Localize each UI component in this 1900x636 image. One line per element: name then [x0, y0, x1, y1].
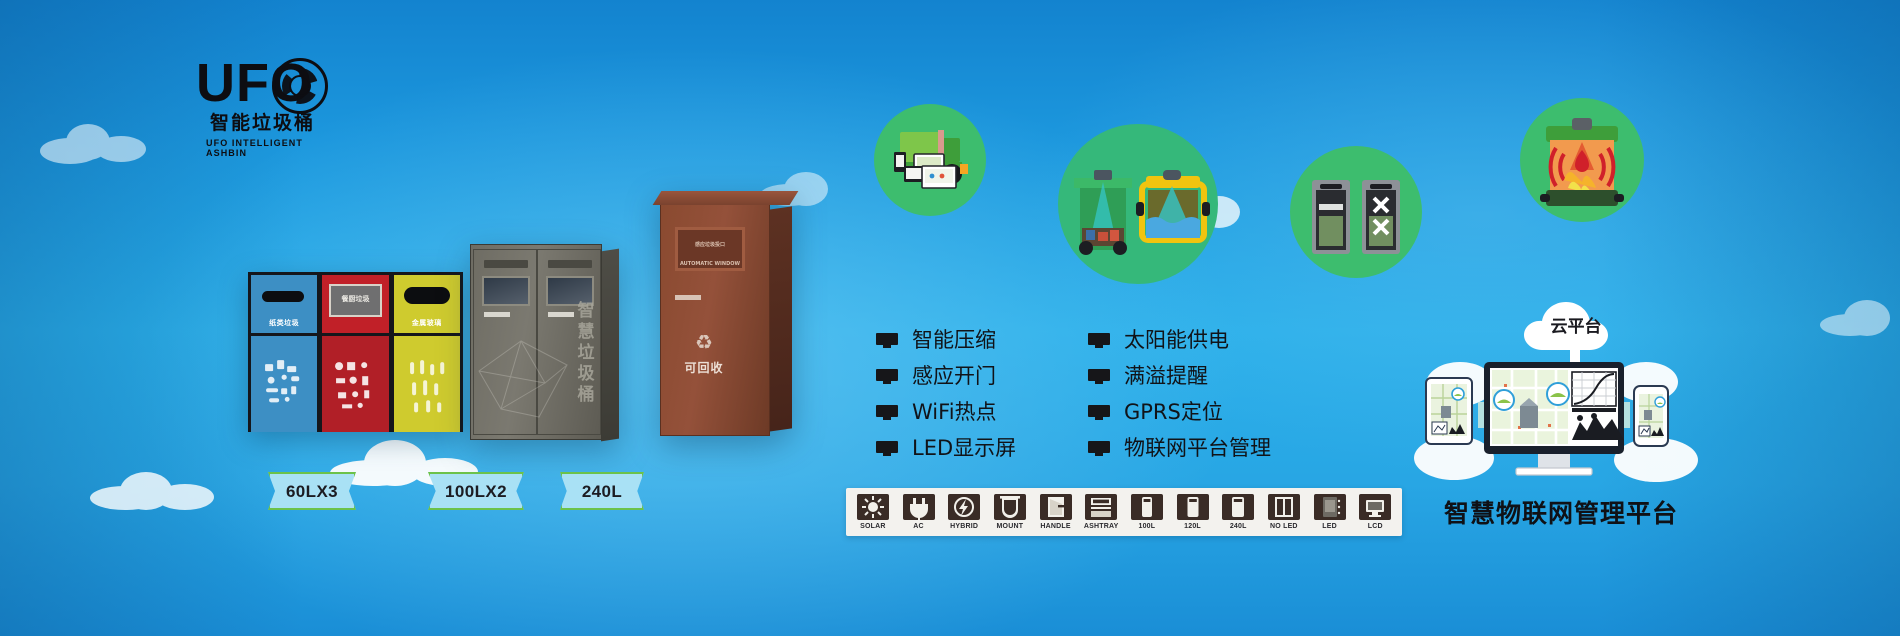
feature-item: WiFi热点: [876, 394, 1016, 430]
sun-icon: [857, 494, 889, 520]
no-led-icon: [1268, 494, 1300, 520]
polygon-pattern-graphic: [475, 331, 595, 421]
spec-item-ac: AC: [898, 494, 940, 531]
monitor-icon: [1088, 441, 1110, 456]
spec-label: NO LED: [1270, 522, 1298, 531]
bin-front-face: 智慧垃圾桶: [470, 244, 602, 440]
spec-item-no-led: NO LED: [1263, 494, 1305, 531]
spec-label: LED: [1322, 522, 1337, 531]
three-compartment-bin: 纸类垃圾 餐厨垃圾: [248, 272, 463, 432]
compartment-label: 餐厨垃圾: [331, 295, 379, 303]
feature-item: 物联网平台管理: [1088, 430, 1271, 466]
monitor-icon: [1088, 369, 1110, 384]
compartment-label: 金属玻璃: [394, 319, 460, 327]
garbage-truck-dashboard-icon: [874, 104, 986, 216]
bin-top-panel: 纸类垃圾: [251, 275, 317, 333]
feature-label: WiFi热点: [912, 401, 997, 424]
bin-side-face: [601, 249, 619, 442]
metal-glass-graphic: [394, 336, 460, 432]
ultrasonic-fill-sensor-icon: [1058, 124, 1218, 284]
spec-item-lcd: LCD: [1354, 494, 1396, 531]
spec-label: 120L: [1184, 522, 1201, 531]
fill-level-sensing-circle: [1058, 124, 1218, 284]
spec-item-hybrid: HYBRID: [943, 494, 985, 531]
spec-item-led: LED: [1309, 494, 1351, 531]
bin-compartment-paper: 纸类垃圾: [248, 272, 319, 432]
plug-icon: [903, 494, 935, 520]
spec-icon-strip: SOLAR AC HYBRID MOUNT HANDLE ASHTRAY 100…: [846, 488, 1402, 536]
feature-item: LED显示屏: [876, 430, 1016, 466]
screen-line-2: AUTOMATIC WINDOW: [678, 261, 742, 268]
paper-waste-graphic: [251, 336, 317, 432]
bin-120l-icon: [1177, 494, 1209, 520]
ufo-ring-icon: [272, 58, 328, 114]
compaction-circle: [1290, 146, 1422, 278]
screen-line-1: 感应垃圾投口: [678, 242, 742, 249]
bin-top-panel: 金属玻璃: [394, 275, 460, 333]
bin-compartment-kitchen: 餐厨垃圾: [319, 272, 390, 432]
feature-item: 太阳能供电: [1088, 322, 1271, 358]
bin-body-panel: [322, 333, 388, 432]
fleet-monitoring-circle: [874, 104, 986, 216]
spec-item-120l: 120L: [1172, 494, 1214, 531]
monitor-icon: [1088, 405, 1110, 420]
capacity-badge-100lx2: 100LX2: [428, 472, 524, 510]
spec-label: AC: [913, 522, 924, 531]
bin-100l-icon: [1131, 494, 1163, 520]
cloud-platform-badge: 云平台: [1520, 300, 1632, 354]
spec-label: LCD: [1368, 522, 1383, 531]
bin-handle-icon: [675, 295, 701, 300]
handle-icon: [1040, 494, 1072, 520]
feature-column-left: 智能压缩 感应开门 WiFi热点 LED显示屏: [876, 322, 1016, 466]
bin-compactor-icon: [1290, 146, 1422, 278]
bin-240l-icon: [1222, 494, 1254, 520]
feature-label: 太阳能供电: [1124, 329, 1229, 352]
bin-compartment-metal-glass: 金属玻璃: [391, 272, 463, 432]
spec-label: 100L: [1138, 522, 1155, 531]
bin-header-strip: [548, 260, 592, 268]
spec-label: ASHTRAY: [1084, 522, 1119, 531]
feature-column-right: 太阳能供电 满溢提醒 GPRS定位 物联网平台管理: [1088, 322, 1271, 466]
fire-alarm-bin-icon: [1520, 98, 1644, 222]
single-recycle-bin: 感应垃圾投口 AUTOMATIC WINDOW ♻ 可回收: [660, 200, 770, 436]
recycle-icon: ♻: [661, 331, 747, 353]
feature-item: 感应开门: [876, 358, 1016, 394]
spec-label: SOLAR: [860, 522, 886, 531]
logo-chinese-name: 智能垃圾桶: [210, 114, 315, 133]
spec-label: HYBRID: [950, 522, 978, 531]
feature-label: LED显示屏: [912, 437, 1016, 460]
monitor-icon: [876, 369, 898, 384]
feature-label: 智能压缩: [912, 329, 996, 352]
recycle-label: 可回收: [661, 361, 747, 375]
bin-handle-icon: [484, 312, 510, 317]
bin-display-screen: [482, 276, 530, 306]
fire-alarm-circle: [1520, 98, 1644, 222]
spec-item-100l: 100L: [1126, 494, 1168, 531]
bin-slot-icon: [262, 291, 304, 302]
lcd-icon: [1359, 494, 1391, 520]
ashtray-icon: [1085, 494, 1117, 520]
spec-label: HANDLE: [1040, 522, 1070, 531]
led-icon: [1314, 494, 1346, 520]
cloud-platform-label: 云平台: [1520, 318, 1632, 337]
kitchen-panel: 餐厨垃圾: [329, 284, 381, 317]
logo-english-name: UFO INTELLIGENT ASHBIN: [206, 138, 326, 158]
feature-label: 感应开门: [912, 365, 996, 388]
feature-label: GPRS定位: [1124, 401, 1223, 424]
compartment-label: 纸类垃圾: [251, 319, 317, 327]
feature-item: GPRS定位: [1088, 394, 1271, 430]
spec-item-ashtray: ASHTRAY: [1080, 494, 1122, 531]
bin-top-panel: 餐厨垃圾: [322, 275, 388, 333]
capacity-badge-240l: 240L: [560, 472, 644, 510]
spec-label: MOUNT: [997, 522, 1024, 531]
spec-item-240l: 240L: [1217, 494, 1259, 531]
capacity-badge-60lx3: 60LX3: [268, 472, 356, 510]
monitor-icon: [876, 333, 898, 348]
poster-canvas: UFO 智能垃圾桶 UFO INTELLIGENT ASHBIN 纸类垃圾: [0, 0, 1900, 636]
monitor-icon: [876, 441, 898, 456]
brand-logo: UFO 智能垃圾桶 UFO INTELLIGENT ASHBIN: [196, 52, 326, 156]
bin-body-panel: [251, 333, 317, 432]
feature-label: 满溢提醒: [1124, 365, 1208, 388]
bin-body-panel: [394, 333, 460, 432]
hybrid-bolt-icon: [948, 494, 980, 520]
feature-item: 满溢提醒: [1088, 358, 1271, 394]
bin-side-face: [769, 206, 792, 431]
bin-slot-icon: [404, 287, 450, 304]
spec-label: 240L: [1230, 522, 1247, 531]
bin-front-face: 感应垃圾投口 AUTOMATIC WINDOW ♻ 可回收: [660, 200, 770, 436]
spec-item-mount: MOUNT: [989, 494, 1031, 531]
bin-display-screen: 感应垃圾投口 AUTOMATIC WINDOW: [675, 227, 745, 271]
desktop-tablet-phone-dashboard-icon: [1408, 348, 1700, 488]
feature-label: 物联网平台管理: [1124, 437, 1271, 460]
spec-item-handle: HANDLE: [1035, 494, 1077, 531]
bin-handle-icon: [548, 312, 574, 317]
spec-item-solar: SOLAR: [852, 494, 894, 531]
monitor-icon: [876, 405, 898, 420]
bin-lid: [653, 191, 799, 205]
platform-title: 智慧物联网管理平台: [1416, 500, 1706, 528]
wall-mount-icon: [994, 494, 1026, 520]
feature-item: 智能压缩: [876, 322, 1016, 358]
kitchen-waste-graphic: [322, 336, 388, 432]
monitor-icon: [1088, 333, 1110, 348]
bin-header-strip: [484, 260, 528, 268]
double-smart-bin: 智慧垃圾桶: [470, 244, 602, 440]
